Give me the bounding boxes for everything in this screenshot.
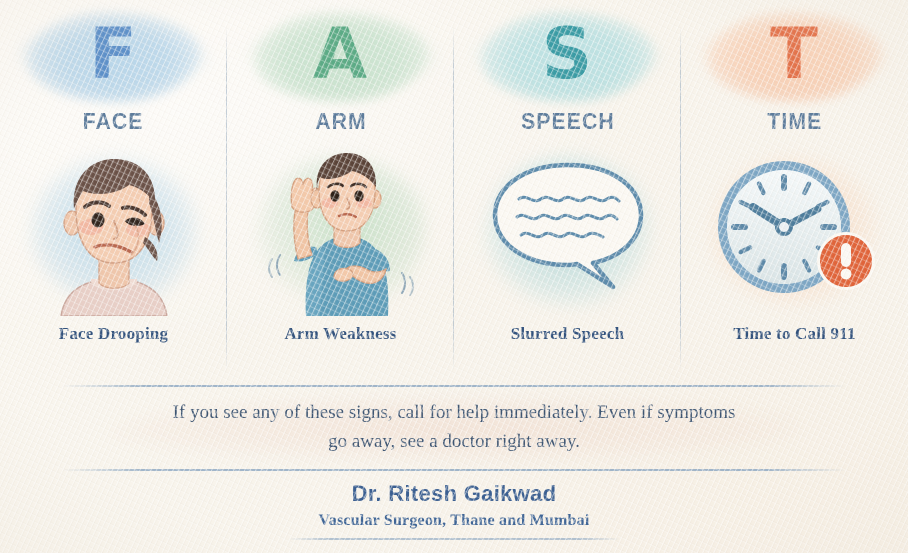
raised-arm-weakness-illustration — [246, 151, 436, 316]
drooping-face-illustration — [19, 151, 209, 316]
advice-line-1: If you see any of these signs, call for … — [0, 398, 908, 427]
panel-word-face: FACE — [83, 108, 144, 135]
panel-divider-1 — [226, 26, 227, 371]
speech-bubble-illustration — [473, 151, 663, 316]
panel-word-time: TIME — [767, 108, 822, 135]
panel-caption-time: Time to Call 911 — [733, 324, 855, 344]
clock-alert-illustration — [700, 151, 890, 316]
panel-caption-face: Face Drooping — [59, 324, 168, 344]
panel-divider-2 — [453, 26, 454, 371]
panel-caption-arm: Arm Weakness — [284, 324, 396, 344]
panel-row: F FACE — [0, 0, 908, 390]
fast-stroke-infographic: F FACE — [0, 0, 908, 553]
doctor-credentials: Vascular Surgeon, Thane and Mumbai — [0, 512, 908, 530]
panel-word-arm: ARM — [315, 108, 367, 135]
divider-top — [62, 385, 846, 387]
big-letter-f: F — [89, 14, 138, 94]
doctor-name: Dr. Ritesh Gaikwad — [0, 481, 908, 507]
big-letter-t: T — [770, 14, 819, 94]
panel-speech: S SPEECH Slurred Speech — [454, 0, 681, 390]
advice-text: If you see any of these signs, call for … — [0, 398, 908, 456]
divider-bottom — [62, 469, 846, 471]
advice-line-2: go away, see a doctor right away. — [0, 427, 908, 456]
panel-divider-3 — [680, 26, 681, 371]
panel-face: F FACE — [0, 0, 227, 390]
divider-footer — [288, 538, 620, 540]
panel-word-speech: SPEECH — [521, 108, 615, 135]
panel-arm: A ARM — [227, 0, 454, 390]
panel-time: T TIME — [681, 0, 908, 390]
panel-caption-speech: Slurred Speech — [511, 324, 624, 344]
big-letter-a: A — [313, 14, 368, 94]
big-letter-s: S — [542, 14, 593, 94]
